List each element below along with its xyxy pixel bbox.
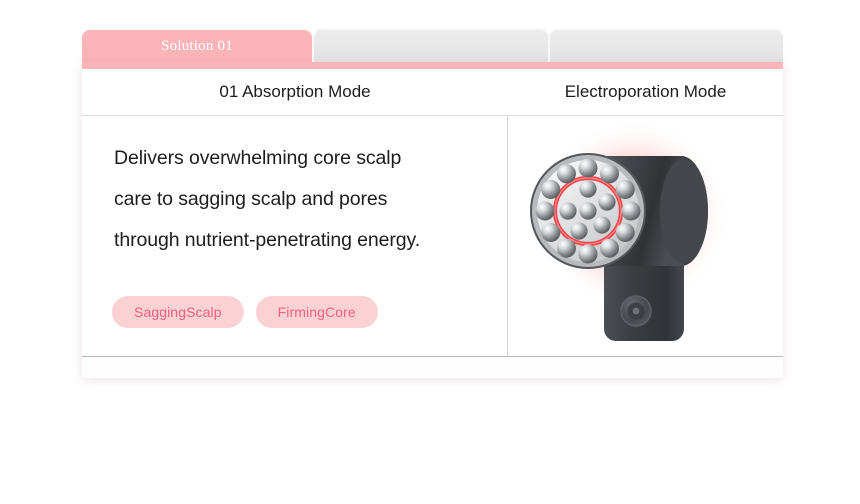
card-accent-bar: [82, 62, 783, 69]
card-footer: [82, 357, 783, 378]
description-line-3: through nutrient-penetrating energy.: [114, 220, 483, 261]
tab-solution-01-label: Solution 01: [161, 38, 233, 55]
tab-solution-03[interactable]: [550, 30, 784, 62]
tab-solution-02[interactable]: [314, 30, 548, 62]
solution-card: 01 Absorption Mode Electroporation Mode …: [82, 62, 783, 378]
device-illustration: [526, 119, 766, 354]
description-line-1: Delivers overwhelming core scalp: [114, 138, 483, 179]
mode-header-electroporation: Electroporation Mode: [508, 69, 783, 115]
description-line-2: care to sagging scalp and pores: [114, 179, 483, 220]
mode-header-absorption: 01 Absorption Mode: [82, 69, 508, 115]
tab-strip: Solution 01: [82, 30, 783, 62]
tag-chip-sagging-scalp[interactable]: SaggingScalp: [112, 296, 244, 328]
tag-chip-firming-core[interactable]: FirmingCore: [256, 296, 378, 328]
tag-chip-group: SaggingScalp FirmingCore: [112, 296, 378, 328]
tab-solution-01[interactable]: Solution 01: [82, 30, 312, 62]
electrode-head-icon: [532, 155, 644, 267]
solution-card-screen: Solution 01 01 Absorption Mode Electropo…: [0, 0, 860, 504]
device-image-panel: [508, 116, 783, 356]
mode-header-row: 01 Absorption Mode Electroporation Mode: [82, 69, 783, 116]
description-panel: Delivers overwhelming core scalp care to…: [82, 116, 508, 356]
scalp-care-device-image: [508, 116, 783, 356]
content-row: Delivers overwhelming core scalp care to…: [82, 116, 783, 357]
